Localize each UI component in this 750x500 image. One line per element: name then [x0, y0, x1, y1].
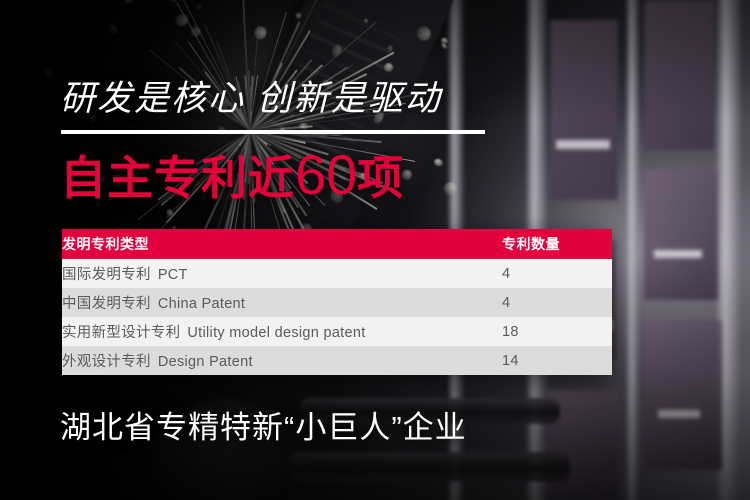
cell-patent-count: 4	[502, 259, 612, 288]
patent-type-cn: 国际发明专利	[62, 267, 151, 283]
headline-main: 自主专利近60项	[60, 146, 404, 205]
patent-type-cn: 实用新型设计专利	[62, 325, 180, 341]
patent-type-en: PCT	[151, 267, 188, 283]
table-row: 实用新型设计专利Utility model design patent 18	[62, 317, 612, 346]
headline-main-suffix: 项	[357, 152, 404, 204]
banner-content: 研发是核心 创新是驱动 自主专利近60项 发明专利类型 专利数量 国际发明专利P…	[0, 0, 750, 500]
cell-patent-count: 14	[502, 346, 612, 375]
patent-table-header: 发明专利类型 专利数量	[62, 229, 612, 259]
headline-divider	[61, 130, 485, 134]
patent-type-cn: 外观设计专利	[62, 354, 151, 370]
column-header-count: 专利数量	[502, 229, 612, 259]
patent-banner: 研发是核心 创新是驱动 自主专利近60项 发明专利类型 专利数量 国际发明专利P…	[0, 0, 750, 500]
table-header-row: 发明专利类型 专利数量	[62, 229, 612, 259]
patent-type-cn: 中国发明专利	[62, 296, 151, 312]
patent-type-en: Utility model design patent	[180, 325, 365, 341]
headline-main-number: 60	[295, 143, 357, 206]
patent-table: 发明专利类型 专利数量 国际发明专利PCT 4 中国发明专利China Pate…	[62, 229, 612, 375]
patent-table-body: 国际发明专利PCT 4 中国发明专利China Patent 4 实用新型设计专…	[62, 259, 612, 375]
patent-type-en: China Patent	[151, 296, 245, 312]
patent-type-en: Design Patent	[151, 354, 253, 370]
headline-subtitle: 研发是核心 创新是驱动	[60, 80, 442, 119]
cell-patent-count: 18	[502, 317, 612, 346]
cell-patent-type: 外观设计专利Design Patent	[62, 346, 502, 375]
cell-patent-type: 国际发明专利PCT	[62, 259, 502, 288]
cell-patent-type: 中国发明专利China Patent	[62, 288, 502, 317]
cell-patent-count: 4	[502, 288, 612, 317]
footer-caption: 湖北省专精特新“小巨人”企业	[60, 402, 467, 447]
table-row: 外观设计专利Design Patent 14	[62, 346, 612, 375]
table-row: 国际发明专利PCT 4	[62, 259, 612, 288]
table-row: 中国发明专利China Patent 4	[62, 288, 612, 317]
headline-main-prefix: 自主专利近	[60, 152, 295, 204]
column-header-type: 发明专利类型	[62, 229, 502, 259]
cell-patent-type: 实用新型设计专利Utility model design patent	[62, 317, 502, 346]
